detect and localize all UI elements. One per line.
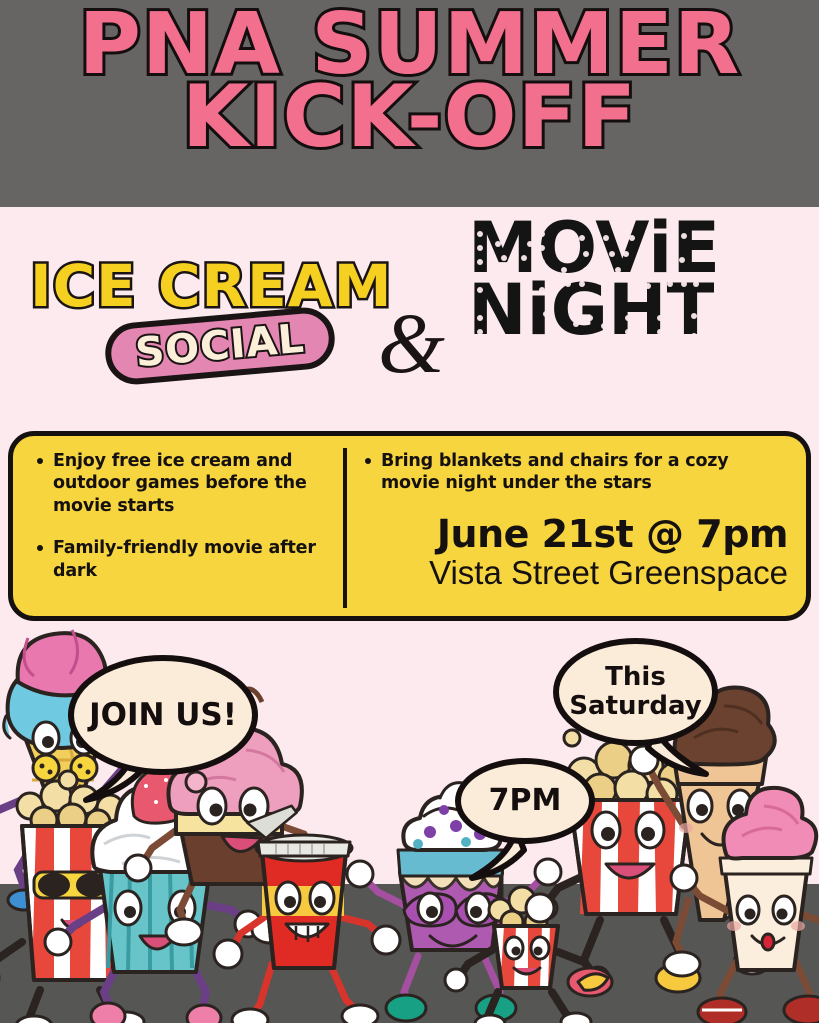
event-location: Vista Street Greenspace [363,555,788,591]
info-box-divider [343,448,347,608]
this-saturday-text: This Saturday [559,663,712,721]
night-word: NiGHT [468,280,720,342]
social-label: SOCIAL [109,312,331,381]
event-info-box: Enjoy free ice cream and outdoor games b… [8,431,811,621]
join-us-text: JOIN US! [89,698,237,733]
list-item: Enjoy free ice cream and outdoor games b… [53,450,330,517]
poster-canvas: PNA SUMMER KICK-OFF ICE CREAM SOCIAL & M… [0,0,819,1023]
speech-bubble-7pm: 7PM [455,758,595,844]
ice-cream-headline: ICE CREAM [30,252,392,320]
ampersand-symbol: & [378,300,445,386]
info-column-right: Bring blankets and chairs for a cozy mov… [363,450,788,591]
speech-bubble-this-saturday: This Saturday [553,638,718,746]
seven-pm-text: 7PM [489,784,562,818]
list-item: Bring blankets and chairs for a cozy mov… [381,450,788,495]
movie-night-headline: MOViE NiGHT [468,218,720,341]
speech-bubble-join-us: JOIN US! [68,655,258,775]
page-title: PNA SUMMER KICK-OFF [0,6,819,157]
right-bullet-list: Bring blankets and chairs for a cozy mov… [363,450,788,495]
event-date: June 21st @ 7pm [363,515,788,555]
info-column-left: Enjoy free ice cream and outdoor games b… [35,450,330,602]
left-bullet-list: Enjoy free ice cream and outdoor games b… [35,450,330,582]
list-item: Family-friendly movie after dark [53,537,330,582]
